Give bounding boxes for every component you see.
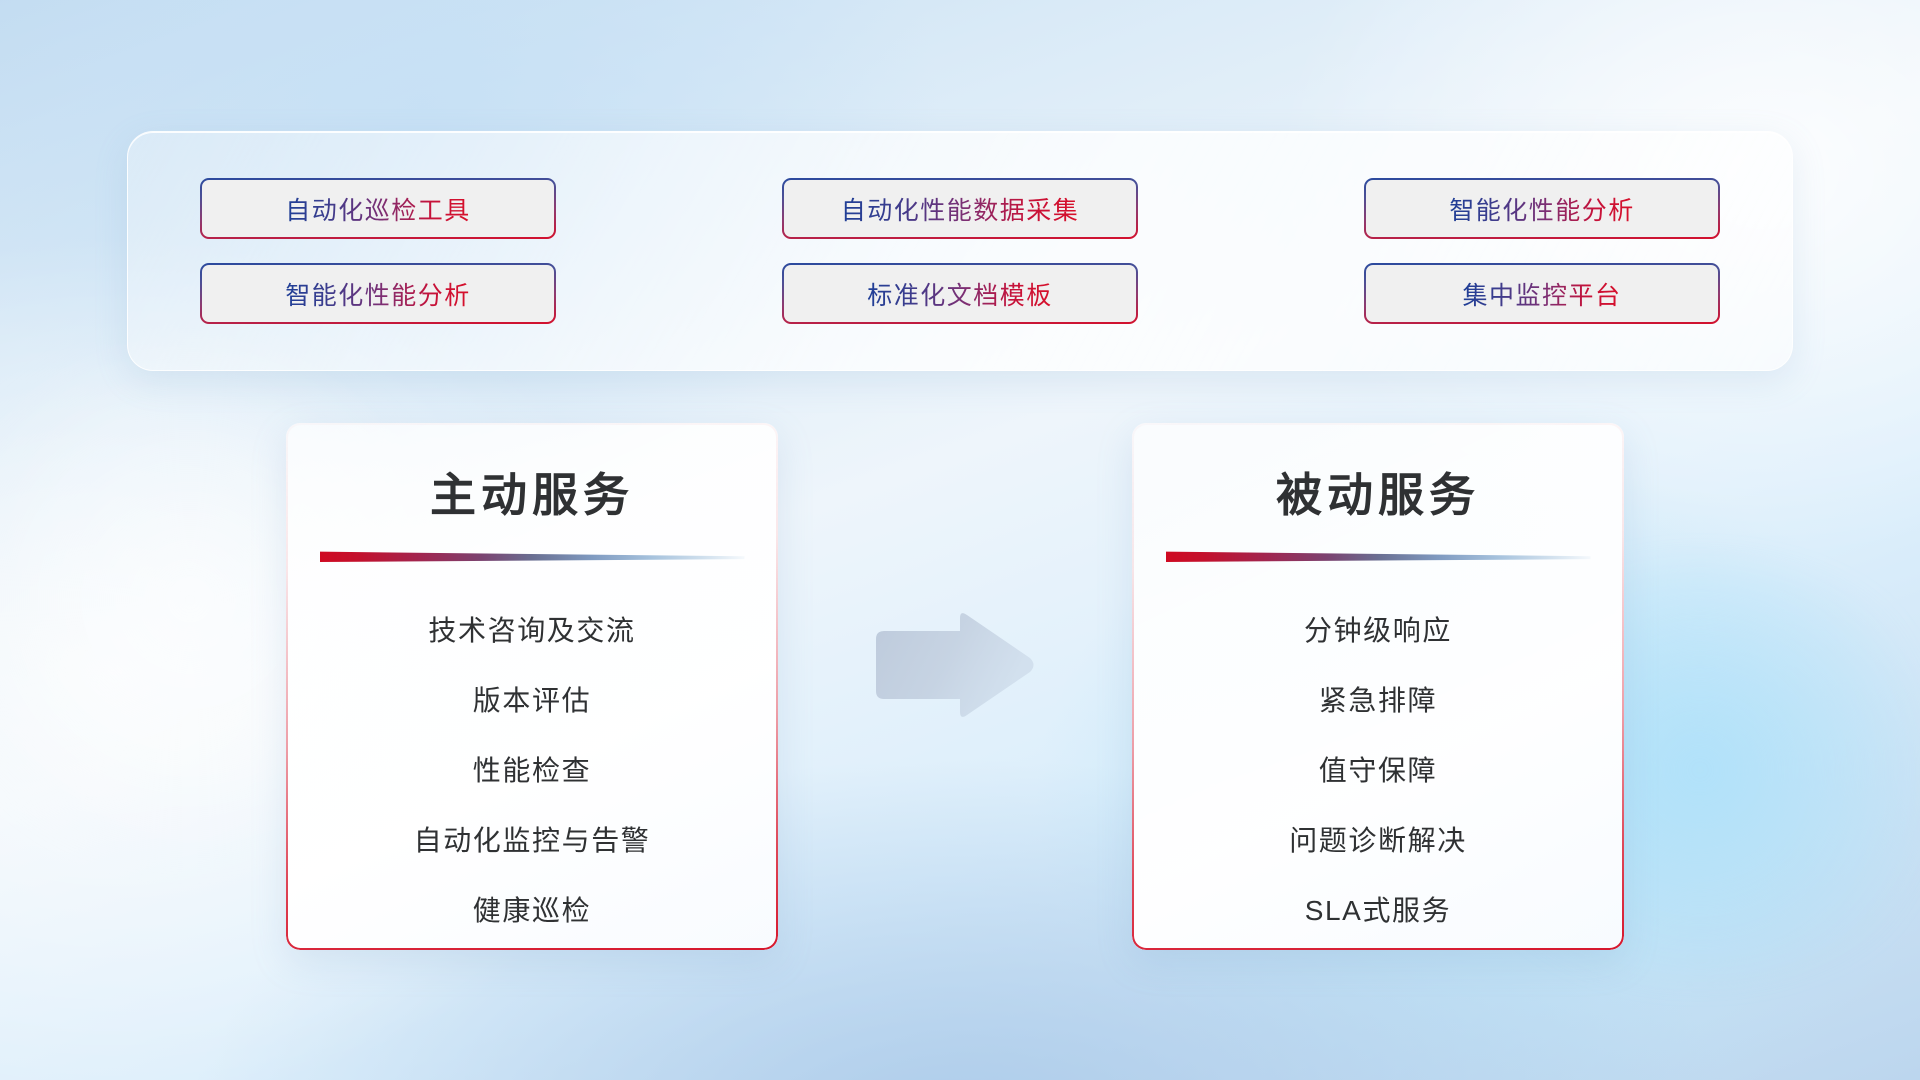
list-item: 技术咨询及交流 (286, 596, 778, 666)
capability-pill-label: 智能化性能分析 (1449, 191, 1635, 227)
capability-pill-label: 标准化文档模板 (867, 276, 1053, 312)
card-divider-bar (320, 550, 745, 562)
capability-column-1: 自动化巡检工具 智能化性能分析 (200, 178, 556, 324)
pill-surface: 自动化性能数据采集 (784, 180, 1136, 237)
card-divider-bar (1166, 550, 1591, 562)
capability-pill-label: 自动化巡检工具 (285, 191, 471, 227)
list-item: 紧急排障 (1132, 666, 1624, 736)
service-item-list: 分钟级响应 紧急排障 值守保障 问题诊断解决 SLA式服务 (1132, 596, 1624, 946)
list-item: SLA式服务 (1132, 876, 1624, 946)
arrow-right-icon (872, 610, 1036, 720)
pill-surface: 智能化性能分析 (1366, 180, 1718, 237)
service-card-title: 被动服务 (1132, 459, 1624, 525)
capability-pill-standardized-document-template[interactable]: 标准化文档模板 (782, 263, 1138, 324)
slide-stage: 自动化巡检工具 智能化性能分析 自动化性能数据采集 标准化文档模板 (0, 0, 1920, 1080)
list-item: 自动化监控与告警 (286, 806, 778, 876)
capability-pill-label: 集中监控平台 (1462, 276, 1621, 312)
card-divider (1166, 550, 1591, 562)
service-item-list: 技术咨询及交流 版本评估 性能检查 自动化监控与告警 健康巡检 (286, 596, 778, 946)
service-card-proactive: 主动服务 技术咨询及交流 版本评估 性能检查 自动化监控与告警 健康巡检 (286, 423, 778, 950)
capability-column-3: 智能化性能分析 集中监控平台 (1364, 178, 1720, 324)
list-item: 健康巡检 (286, 876, 778, 946)
service-card-title: 主动服务 (286, 459, 778, 525)
capability-pill-automated-inspection-tool[interactable]: 自动化巡检工具 (200, 178, 556, 239)
list-item: 问题诊断解决 (1132, 806, 1624, 876)
capability-pill-label: 自动化性能数据采集 (841, 191, 1080, 227)
capability-pill-intelligent-performance-analysis[interactable]: 智能化性能分析 (200, 263, 556, 324)
list-item: 分钟级响应 (1132, 596, 1624, 666)
list-item: 性能检查 (286, 736, 778, 806)
list-item: 版本评估 (286, 666, 778, 736)
service-card-reactive: 被动服务 分钟级响应 紧急排障 值守保障 问题诊断解决 SLA式服务 (1132, 423, 1624, 950)
pill-surface: 集中监控平台 (1366, 265, 1718, 322)
pill-surface: 自动化巡检工具 (202, 180, 554, 237)
card-divider (320, 550, 745, 562)
capability-pill-intelligent-performance-analysis-2[interactable]: 智能化性能分析 (1364, 178, 1720, 239)
capability-pill-label: 智能化性能分析 (285, 276, 471, 312)
capability-panel: 自动化巡检工具 智能化性能分析 自动化性能数据采集 标准化文档模板 (127, 131, 1793, 371)
pill-surface: 标准化文档模板 (784, 265, 1136, 322)
capability-column-2: 自动化性能数据采集 标准化文档模板 (782, 178, 1138, 324)
list-item: 值守保障 (1132, 736, 1624, 806)
pill-surface: 智能化性能分析 (202, 265, 554, 322)
capability-pill-centralized-monitoring-platform[interactable]: 集中监控平台 (1364, 263, 1720, 324)
capability-pill-automated-performance-data-collection[interactable]: 自动化性能数据采集 (782, 178, 1138, 239)
